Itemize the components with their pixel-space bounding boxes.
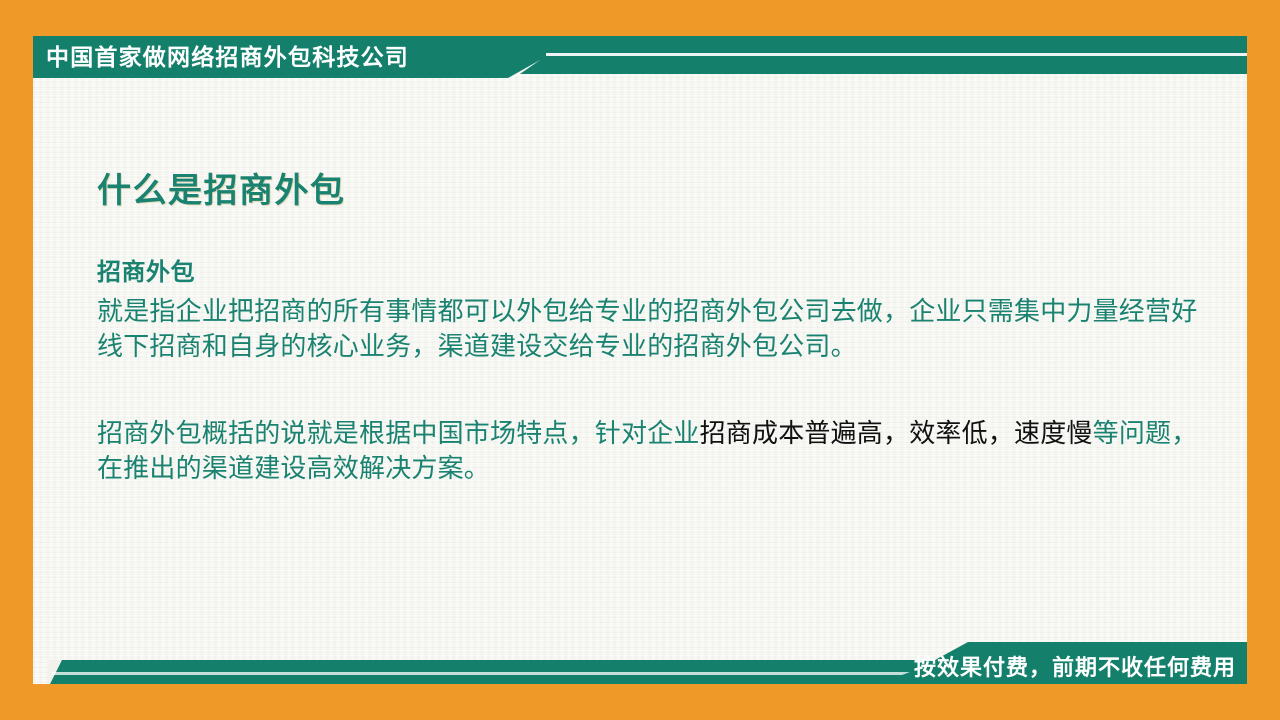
page-title: 什么是招商外包 bbox=[97, 168, 1220, 214]
summary-highlight: 招商成本普遍高，效率低，速度慢 bbox=[700, 418, 1093, 448]
main-content: 什么是招商外包 招商外包 就是指企业把招商的所有事情都可以外包给专业的招商外包公… bbox=[97, 168, 1220, 486]
slide: 中国首家做网络招商外包科技公司 按效果付费，前期不收任何费用 什么是招商外包 招… bbox=[0, 0, 1280, 720]
definition-paragraph: 就是指企业把招商的所有事情都可以外包给专业的招商外包公司去做，企业只需集中力量经… bbox=[97, 294, 1220, 364]
summary-part-1: 招商外包概括的说就是根据中国市场特点，针对企业 bbox=[97, 418, 700, 448]
section-subheading: 招商外包 bbox=[97, 257, 1220, 289]
summary-paragraph: 招商外包概括的说就是根据中国市场特点，针对企业招商成本普遍高，效率低，速度慢等问… bbox=[97, 416, 1220, 486]
